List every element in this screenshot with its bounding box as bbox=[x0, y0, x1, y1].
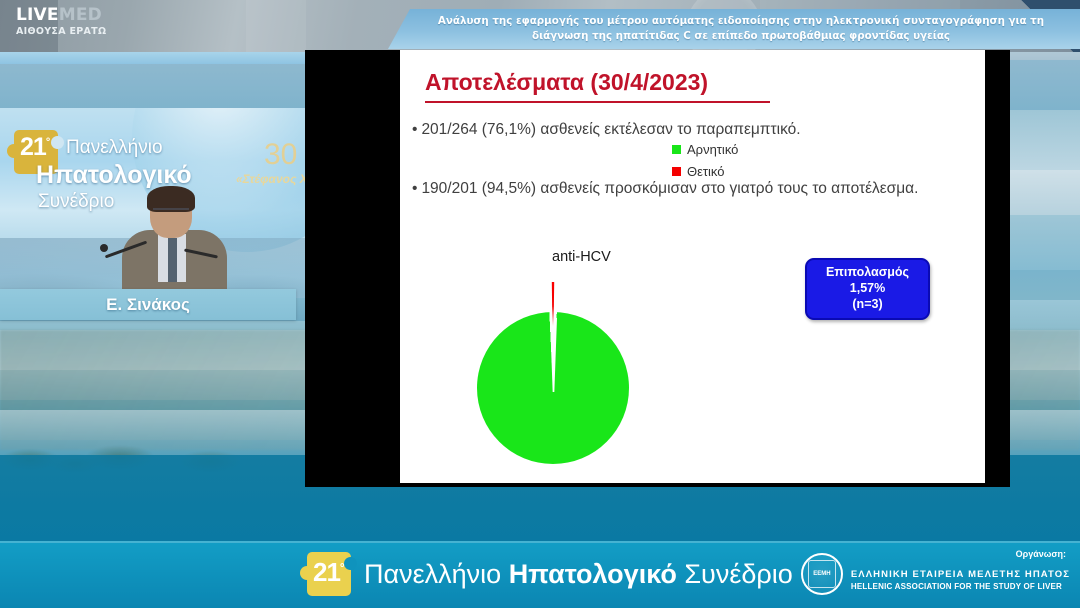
legend-label-positive: Θετικό bbox=[687, 164, 725, 179]
organizer-label: Οργάνωση: bbox=[1016, 549, 1066, 559]
backdrop-subtitle: «Στέφανος Χατ bbox=[236, 172, 305, 186]
conference-degree: ° bbox=[46, 137, 49, 149]
slide-bullet-1-text: 201/264 (76,1%) ασθενείς εκτέλεσαν το πα… bbox=[421, 121, 800, 138]
callout-line-3: (n=3) bbox=[852, 297, 882, 313]
livemed-med-text: MED bbox=[59, 5, 102, 25]
footer-number-value: 21 bbox=[313, 557, 340, 587]
organizer-name-english: HELLENIC ASSOCIATION FOR THE STUDY OF LI… bbox=[851, 582, 1070, 591]
backdrop-number: 30 bbox=[264, 138, 297, 172]
room-label: ΑΙΘΟΥΣΑ ΕΡΑΤΩ bbox=[16, 27, 106, 37]
footer-conference-title: Πανελλήνιο Ηπατολογικό Συνέδριο bbox=[364, 559, 793, 590]
slide-bullet-1: •201/264 (76,1%) ασθενείς εκτέλεσαν το π… bbox=[412, 119, 972, 141]
legend-swatch-positive-icon bbox=[672, 167, 681, 176]
footer-conference-number: 21° bbox=[313, 557, 344, 588]
speaker-glasses bbox=[153, 208, 189, 216]
legend-label-negative: Αρνητικό bbox=[687, 142, 738, 157]
bullet-glyph: • bbox=[412, 178, 417, 200]
livemed-wordmark: LIVEMED bbox=[16, 7, 106, 24]
session-title-text: Ανάλυση της εφαρμογής του μέτρου αυτόματ… bbox=[416, 14, 1066, 44]
slide-bullet-2-text: 190/201 (94,5%) ασθενείς προσκόμισαν στο… bbox=[421, 180, 918, 197]
presentation-slide[interactable]: Αποτελέσματα (30/4/2023) •201/264 (76,1%… bbox=[400, 50, 985, 483]
footer-title-pre: Πανελλήνιο bbox=[364, 559, 509, 589]
slide-title: Αποτελέσματα (30/4/2023) bbox=[425, 69, 708, 96]
footer-degree: ° bbox=[340, 560, 344, 574]
speaker-name-bar: Ε. Σινάκος bbox=[0, 289, 296, 320]
livemed-live-text: LIVE bbox=[16, 5, 59, 25]
chart-title: anti-HCV bbox=[552, 249, 611, 265]
bullet-glyph: • bbox=[412, 119, 417, 141]
organizer-block: Οργάνωση: ΕΕΜΗ ΕΛΛΗΝΙΚΗ ΕΤΑΙΡΕΙΑ ΜΕΛΕΤΗΣ… bbox=[801, 553, 1070, 595]
prevalence-callout: Επιπολασμός 1,57% (n=3) bbox=[805, 258, 930, 320]
legend-item-negative: Αρνητικό bbox=[672, 142, 738, 157]
speaker-name: Ε. Σινάκος bbox=[106, 295, 190, 315]
microphone-head-icon bbox=[100, 244, 108, 252]
footer-divider bbox=[0, 541, 1080, 543]
conference-line-2: Ηπατολογικό bbox=[36, 163, 192, 188]
organizer-name-greek: ΕΛΛΗΝΙΚΗ ΕΤΑΙΡΕΙΑ ΜΕΛΕΤΗΣ ΗΠΑΤΟΣ bbox=[851, 569, 1070, 580]
footer-title-bold: Ηπατολογικό bbox=[509, 559, 677, 589]
footer-conference-logo: 21° bbox=[307, 552, 351, 596]
footer-bar: 21° Πανελλήνιο Ηπατολογικό Συνέδριο Οργά… bbox=[0, 541, 1080, 608]
livemed-logo[interactable]: LIVEMED ΑΙΘΟΥΣΑ ΕΡΑΤΩ bbox=[16, 7, 106, 37]
callout-line-1: Επιπολασμός bbox=[826, 265, 909, 281]
legend-item-positive: Θετικό bbox=[672, 164, 738, 179]
society-seal-text: ΕΕΜΗ bbox=[813, 571, 830, 577]
conference-line-1: Πανελλήνιο bbox=[66, 138, 163, 157]
pie-chart bbox=[477, 312, 629, 464]
session-title-banner: Ανάλυση της εφαρμογής του μέτρου αυτόματ… bbox=[388, 9, 1080, 49]
legend-swatch-negative-icon bbox=[672, 145, 681, 154]
society-seal-icon: ΕΕΜΗ bbox=[801, 553, 843, 595]
slide-title-underline bbox=[425, 101, 770, 103]
chart-legend: Αρνητικό Θετικό bbox=[672, 142, 738, 186]
callout-line-2: 1,57% bbox=[850, 281, 885, 297]
conference-line-3: Συνέδριο bbox=[38, 192, 114, 211]
speaker-figure bbox=[122, 190, 227, 300]
organizer-names: ΕΛΛΗΝΙΚΗ ΕΤΑΙΡΕΙΑ ΜΕΛΕΤΗΣ ΗΠΑΤΟΣ HELLENI… bbox=[851, 569, 1070, 591]
broadcast-player: LIVEMED ΑΙΘΟΥΣΑ ΕΡΑΤΩ Ανάλυση της εφαρμο… bbox=[0, 0, 1080, 608]
speaker-tie bbox=[168, 238, 177, 282]
footer-title-post: Συνέδριο bbox=[677, 559, 793, 589]
conference-number: 21° bbox=[20, 135, 49, 160]
conference-number-value: 21 bbox=[20, 133, 46, 161]
header-panel-mid bbox=[246, 0, 306, 52]
